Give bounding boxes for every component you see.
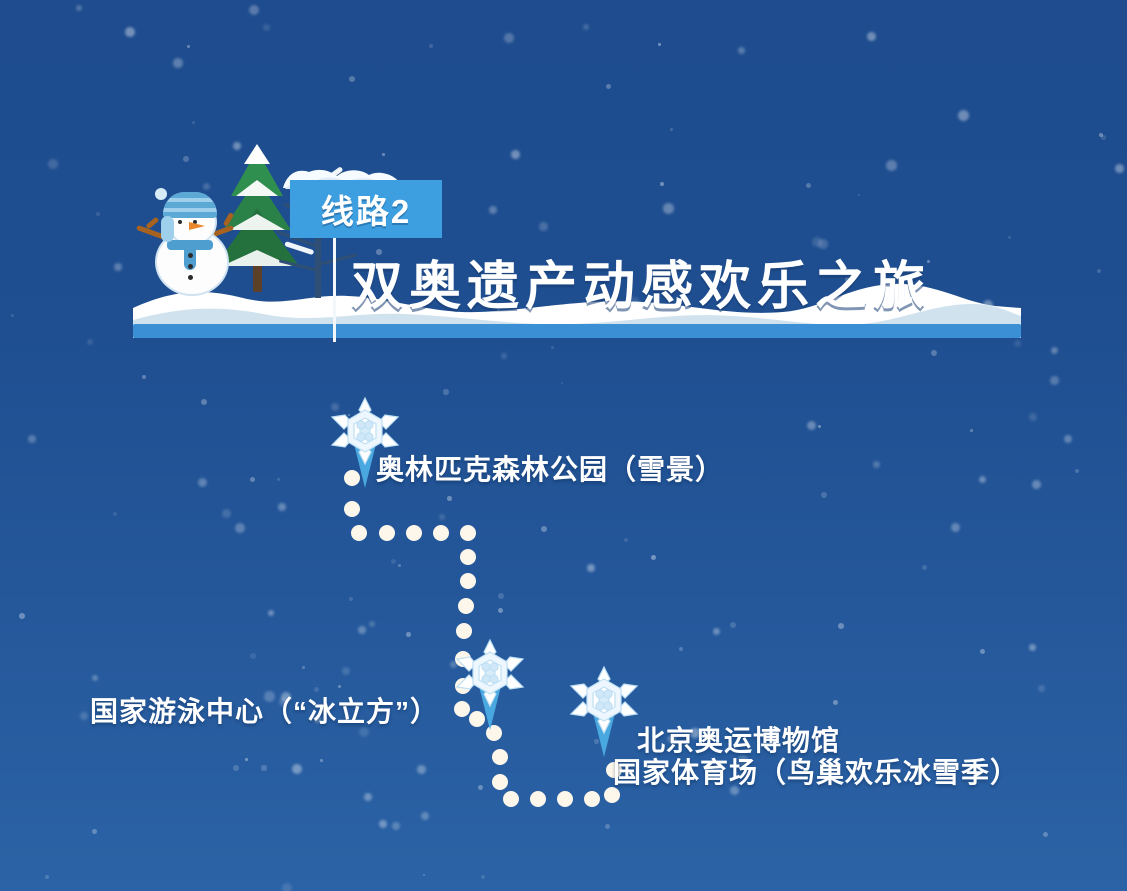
snow-speck [187,45,190,48]
page-title: 双奥遗产动感欢乐之旅 [351,238,931,324]
route-path-dot [557,791,573,807]
route-stop-marker-2[interactable] [455,638,525,730]
route-badge-label: 线路2 [290,180,442,238]
snowman-arm-left-twig [145,217,159,230]
snowman-hat-pompom [155,188,167,200]
snow-speck [958,110,969,121]
snow-speck [96,212,100,216]
route-path-dot [351,525,367,541]
snow-speck [11,314,14,317]
snow-speck [606,84,611,89]
snow-speck [583,24,589,30]
snowman-arm-right-twig [223,212,234,227]
snow-speck [125,27,135,37]
snow-speck [114,263,122,271]
route-path-dot [530,791,546,807]
route-path-dot [584,791,600,807]
route-path-dot [458,598,474,614]
snow-speck [249,5,259,15]
snow-speck [738,47,745,54]
snow-speck [1101,135,1106,140]
snow-speck [76,5,82,11]
snow-speck [867,32,876,41]
snowman-eye-left [178,220,182,224]
route-path-dot [503,791,519,807]
route-stop-label-4: 国家体育场（鸟巢欢乐冰雪季） [613,751,1019,791]
snowflake-icon [569,665,639,735]
signpost-pole [333,236,336,342]
route-stop-label-1: 奥林匹克森林公园（雪景） [376,448,724,488]
route-badge[interactable]: 线路2 [290,180,442,238]
header-banner: 线路2 双奥遗产动感欢乐之旅 [133,148,1021,338]
snow-speck [670,128,673,131]
snowman-button-3 [188,275,193,280]
snow-speck [173,58,183,68]
snow-speck [429,44,433,48]
route-path-dot [406,525,422,541]
route-path-dot [344,501,360,517]
route-path-dot [433,525,449,541]
snowman-button-1 [188,253,193,258]
snowman-hat [163,192,217,218]
snowman-button-2 [188,264,193,269]
poster-canvas: 线路2 双奥遗产动感欢乐之旅 奥林匹克森林公园（雪景）国家游泳中心（“冰立方”）… [0,0,1127,891]
route-path-dot [460,573,476,589]
snowman-carrot-nose [189,222,205,230]
snow-speck [658,43,661,46]
snowman-illustration [145,176,237,296]
route-stop-marker-3[interactable] [569,665,639,757]
snow-speck [1099,133,1103,137]
route-map: 奥林匹克森林公园（雪景）国家游泳中心（“冰立方”）北京奥运博物馆国家体育场（鸟巢… [0,340,1127,891]
snow-speck [349,76,355,82]
route-stop-label-2: 国家游泳中心（“冰立方”） [90,690,439,730]
route-path-dot [460,549,476,565]
route-path-dot [492,749,508,765]
snow-speck [1097,269,1101,273]
snow-speck [504,33,514,43]
route-path-dot [379,525,395,541]
snow-speck [48,159,58,169]
snowflake-icon [455,638,525,708]
route-path-dot [492,774,508,790]
route-path-dot [460,525,476,541]
route-path-dot [456,623,472,639]
snow-speck [1115,164,1124,173]
snow-speck [263,24,270,31]
snowman-earflap [161,216,174,242]
snow-speck [192,121,195,124]
